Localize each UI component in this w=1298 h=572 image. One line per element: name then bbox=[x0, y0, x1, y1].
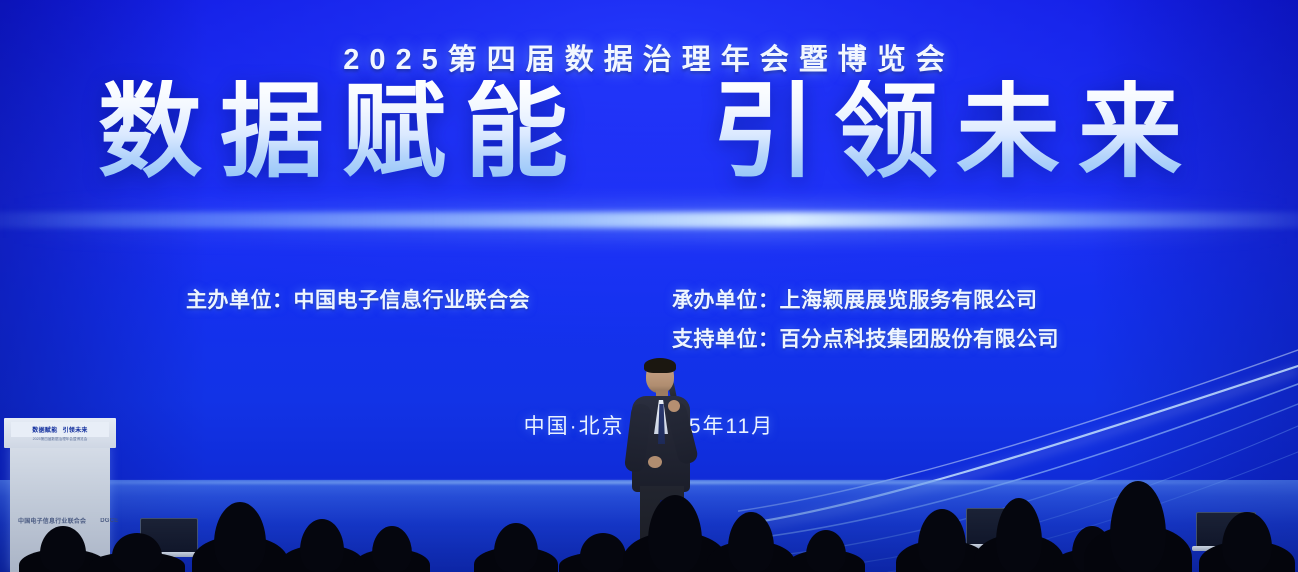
audience-head bbox=[112, 533, 162, 572]
podium-banner-left: 数据赋能 bbox=[32, 425, 57, 434]
podium-banner-subline: 2025第四届数据治理年会暨博览会 bbox=[11, 437, 109, 442]
conference-stage-photo: 2025第四届数据治理年会暨博览会 数据赋能 引领未来 主办单位：中国电子信息行… bbox=[0, 0, 1298, 572]
host-credit-value: 中国电子信息行业联合会 bbox=[294, 289, 531, 312]
podium-banner: 数据赋能 引领未来 bbox=[11, 422, 109, 437]
horizon-light-beam bbox=[0, 212, 1298, 228]
organizer-credit-label: 承办单位： bbox=[672, 289, 780, 312]
headline-part-2: 引领未来 bbox=[712, 80, 1200, 184]
audience-head bbox=[40, 526, 86, 572]
audience-head bbox=[1110, 481, 1166, 572]
supporter-credit: 支持单位：百分点科技集团股份有限公司 bbox=[672, 323, 1059, 353]
organizer-credit: 承办单位：上海颖展展览服务有限公司 bbox=[672, 284, 1038, 314]
audience-head bbox=[996, 498, 1042, 572]
audience-head bbox=[648, 495, 702, 572]
host-credit: 主办单位：中国电子信息行业联合会 bbox=[186, 284, 530, 314]
audience-head bbox=[214, 502, 266, 572]
supporter-credit-label: 支持单位： bbox=[672, 328, 780, 351]
credits-block: 主办单位：中国电子信息行业联合会 承办单位：上海颖展展览服务有限公司 支持单位：… bbox=[0, 284, 1298, 364]
audience-head bbox=[918, 509, 966, 572]
audience-head bbox=[1222, 512, 1272, 572]
audience-head bbox=[806, 530, 846, 572]
audience-head bbox=[494, 523, 538, 572]
organizer-credit-value: 上海颖展展览服务有限公司 bbox=[780, 289, 1038, 312]
host-credit-label: 主办单位： bbox=[186, 289, 294, 312]
audience-silhouettes bbox=[0, 452, 1298, 572]
event-headline: 数据赋能 引领未来 bbox=[0, 80, 1298, 184]
audience-head bbox=[728, 512, 774, 572]
speaker-hair bbox=[644, 358, 676, 373]
podium-banner-right: 引领未来 bbox=[63, 425, 88, 434]
supporter-credit-value: 百分点科技集团股份有限公司 bbox=[780, 328, 1060, 351]
audience-head bbox=[580, 533, 626, 572]
event-eyebrow-title: 2025第四届数据治理年会暨博览会 bbox=[0, 36, 1298, 78]
audience-head bbox=[372, 526, 412, 572]
audience-head bbox=[300, 519, 344, 572]
speaker-right-hand bbox=[668, 400, 680, 412]
headline-part-1: 数据赋能 bbox=[98, 80, 586, 184]
